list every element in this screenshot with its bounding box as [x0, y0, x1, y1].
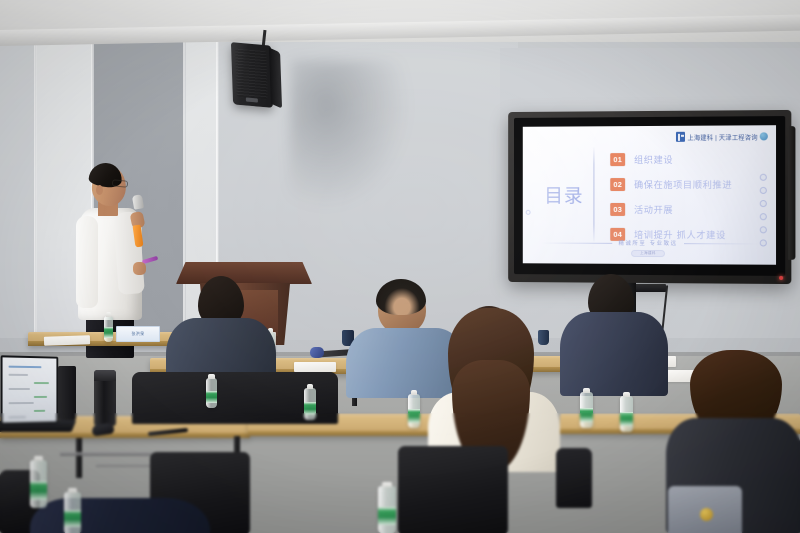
handout	[294, 362, 336, 372]
speaker-logo	[246, 97, 258, 102]
bottle-label	[206, 391, 217, 403]
slide-vertical-divider	[593, 147, 594, 242]
toc-label: 确保在施项目顺利推进	[634, 177, 732, 191]
footer-rule-left	[540, 242, 612, 243]
toc-label: 组织建设	[634, 152, 673, 166]
laptop-ui-line	[9, 416, 27, 418]
name-placard: 张洪泉	[116, 326, 160, 342]
speaker-wall-shadow	[290, 60, 410, 210]
brand-name: 上海建科 | 天津工程咨询	[687, 132, 757, 142]
speaker-grille	[235, 49, 268, 100]
bottle-label	[30, 481, 47, 500]
footer-rule: 精诚所至 专业致远	[540, 239, 758, 248]
laptop-ui-line	[9, 366, 42, 369]
footer-tagline: 精诚所至 专业致远	[619, 239, 678, 247]
papers-on-table	[44, 335, 90, 346]
footer-rule-right	[684, 243, 758, 244]
attendee-foreground-left	[30, 498, 210, 533]
laptop-ui-line	[34, 396, 47, 398]
ceiling-speaker	[231, 42, 273, 108]
slide-dot-rail	[760, 174, 767, 247]
laptop-screen[interactable]	[1, 355, 59, 424]
laptop-ui-line	[34, 382, 49, 384]
water-bottle	[104, 316, 113, 342]
bottle-label	[620, 412, 633, 426]
laptop-ui-line	[9, 388, 30, 390]
power-led-icon	[779, 276, 783, 280]
rail-dot-icon	[760, 213, 767, 220]
toc-item[interactable]: 02 确保在施项目顺利推进	[610, 177, 740, 191]
bottle-label	[378, 507, 396, 526]
water-bottle	[64, 492, 81, 533]
presenter-left-arm	[76, 216, 98, 308]
water-bottle	[30, 460, 47, 508]
brand-badge-icon	[760, 132, 768, 140]
brand-mark-icon	[676, 132, 685, 142]
title-bullet-icon	[526, 210, 531, 215]
table-leg	[76, 438, 82, 478]
laptop-ui-line	[34, 410, 45, 412]
bottle-label	[580, 408, 593, 422]
water-bottle	[206, 378, 217, 408]
bottle-label	[104, 327, 113, 337]
rail-dot-icon	[760, 187, 767, 194]
rail-dot-icon	[760, 226, 767, 233]
attendee-shirt	[560, 312, 668, 396]
slide-content: 上海建科 | 天津工程咨询 目录 01 组织建设	[523, 125, 776, 265]
presenter-ear	[96, 185, 103, 195]
presenter-other-hand	[133, 262, 146, 275]
display-screen[interactable]: 上海建科 | 天津工程咨询 目录 01 组织建设	[523, 125, 776, 265]
toc-number-badge: 02	[610, 178, 625, 191]
handheld-mic-head	[310, 347, 324, 358]
water-bottle	[304, 388, 316, 420]
presentation-display[interactable]: 上海建科 | 天津工程咨询 目录 01 组织建设	[508, 110, 791, 284]
toc-item[interactable]: 01 组织建设	[610, 152, 740, 166]
tumbler	[538, 330, 549, 345]
wall-panel-1	[0, 8, 36, 338]
lectern-top	[176, 262, 312, 284]
table-edge	[0, 433, 250, 438]
display-bezel: 上海建科 | 天津工程咨询 目录 01 组织建设	[514, 116, 785, 276]
slide-title: 目录	[538, 187, 589, 206]
toc-label: 活动开展	[634, 202, 673, 216]
chair-right[interactable]	[556, 448, 592, 508]
bottle-label	[408, 409, 420, 423]
display-side-panel	[788, 126, 795, 260]
footer-pill: 上海建科	[631, 250, 665, 257]
panel-seam	[183, 24, 186, 344]
bag-clasp	[700, 508, 713, 521]
laptop-ui-line	[9, 402, 34, 404]
water-bottle	[408, 394, 420, 428]
table-of-contents: 01 组织建设 02 确保在施项目顺利推进 03 活动开展	[610, 152, 767, 242]
bottle-label	[64, 510, 81, 527]
rail-dot-icon	[760, 200, 767, 207]
bottle-label	[304, 402, 316, 415]
conference-room-photo: 上海建科 | 天津工程咨询 目录 01 组织建设	[0, 0, 800, 533]
water-bottle	[620, 396, 633, 432]
toc-number-badge: 03	[610, 202, 625, 215]
footer-pill-label: 上海建科	[640, 251, 656, 256]
rail-dot-icon	[760, 174, 767, 181]
laptop-ui-line	[9, 374, 29, 376]
chair-foreground-mid[interactable]	[398, 446, 508, 533]
water-bottle	[378, 486, 396, 533]
monitor-rear	[58, 366, 76, 420]
attendee-hair	[376, 279, 426, 315]
toc-item[interactable]: 03 活动开展	[610, 202, 740, 216]
water-bottle	[580, 392, 593, 428]
name-placard-text: 张洪泉	[132, 331, 145, 337]
toc-number-badge: 01	[610, 153, 625, 166]
slide-footer: 精诚所至 专业致远 上海建科	[523, 239, 776, 258]
panel-seam	[34, 8, 37, 342]
thermos-flask	[94, 370, 116, 426]
slide-brand-logo: 上海建科 | 天津工程咨询	[676, 131, 767, 142]
